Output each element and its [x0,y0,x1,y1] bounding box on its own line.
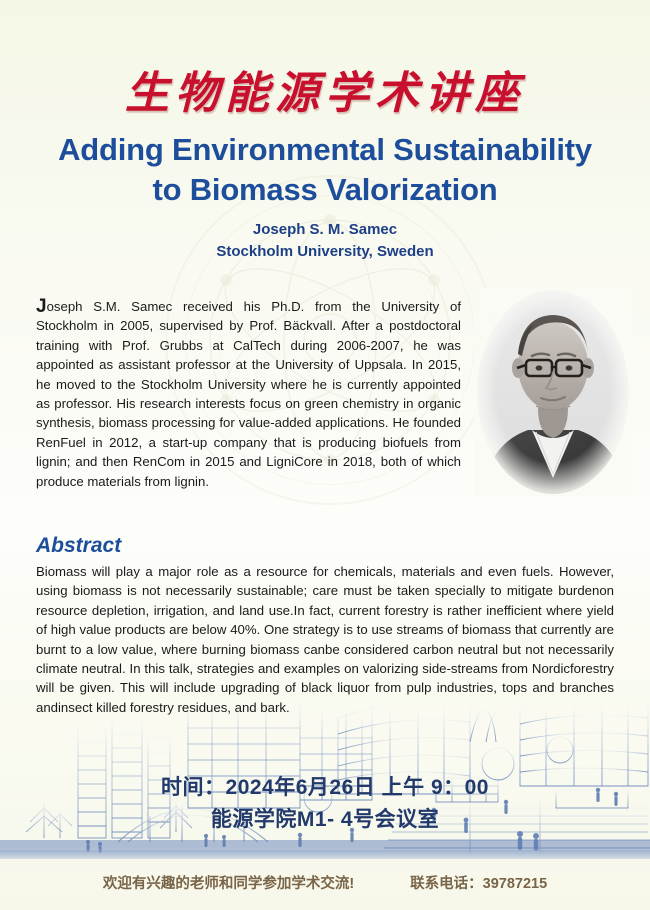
footer-contact: 联系电话：39787215 [410,872,547,893]
poster-canvas: 生物能源学术讲座 Adding Environmental Sustainabi… [0,0,650,910]
event-venue: 能源学院M1- 4号会议室 [0,803,650,833]
biography-dropcap: J [36,296,47,317]
biography-paragraph: Joseph S.M. Samec received his Ph.D. fro… [36,297,461,491]
english-title-line2: to Biomass Valorization [25,170,625,210]
abstract-heading: Abstract [36,534,121,558]
english-title: Adding Environmental Sustainability to B… [25,130,625,209]
speaker-portrait [474,288,632,496]
abstract-text: Biomass will play a major role as a reso… [36,562,614,717]
speaker-name: Joseph S. M. Samec [0,218,650,241]
footer-bar: 欢迎有兴趣的老师和同学参加学术交流! 联系电话：39787215 [0,872,650,893]
english-title-line1: Adding Environmental Sustainability [25,130,625,170]
speaker-affiliation: Stockholm University, Sweden [0,243,650,260]
event-time: 时间：2024年6月26日 上午 9：00 [0,771,650,801]
campus-fade-bottom [0,848,650,872]
chinese-title: 生物能源学术讲座 [0,57,650,121]
footer-welcome: 欢迎有兴趣的老师和同学参加学术交流! [103,872,354,893]
biography-text: oseph S.M. Samec received his Ph.D. from… [36,299,461,489]
